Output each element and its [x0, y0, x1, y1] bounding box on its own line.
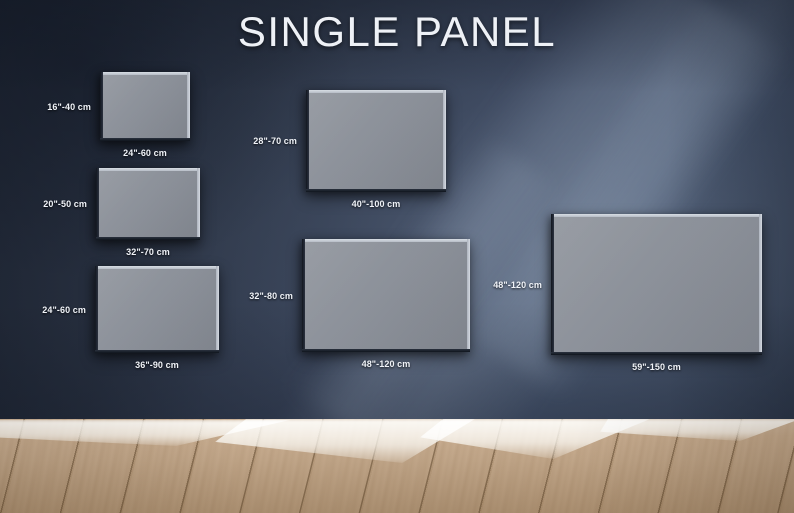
panel-face-sheen	[99, 171, 197, 237]
panel-edge-bottom	[95, 350, 219, 353]
panel-edge-left	[95, 266, 98, 353]
panel-width-label: 32"-70 cm	[126, 247, 170, 257]
panel-height-label: 32"-80 cm	[249, 291, 293, 301]
canvas-panel-40x28[interactable]	[306, 90, 446, 192]
panel-edge-right	[443, 90, 446, 192]
panel-edge-left	[100, 72, 103, 141]
panel-edge-left	[96, 168, 99, 240]
wood-floor	[0, 419, 794, 513]
panel-edge-top	[551, 214, 762, 217]
canvas-panel-48x32[interactable]	[302, 239, 470, 352]
panel-edge-left	[551, 214, 554, 355]
panel-edge-right	[216, 266, 219, 353]
canvas-panel-32x20[interactable]	[96, 168, 200, 240]
panel-height-label: 16"-40 cm	[47, 102, 91, 112]
panel-edge-left	[306, 90, 309, 192]
panel-face-sheen	[309, 93, 443, 189]
panel-width-label: 40"-100 cm	[352, 199, 401, 209]
panel-height-label: 48"-120 cm	[493, 280, 542, 290]
panel-edge-right	[759, 214, 762, 355]
panel-width-label: 36"-90 cm	[135, 360, 179, 370]
canvas-panel-24x16[interactable]	[100, 72, 190, 141]
panel-edge-bottom	[302, 349, 470, 352]
panel-edge-bottom	[100, 138, 190, 141]
single-panel-size-guide: SINGLE PANEL 16"-40 cm 24"-60 cm 20"-50 …	[0, 0, 794, 513]
panel-face-sheen	[554, 217, 759, 352]
canvas-panel-59x48[interactable]	[551, 214, 762, 355]
page-title: SINGLE PANEL	[0, 8, 794, 56]
panel-edge-right	[197, 168, 200, 240]
panel-edge-top	[96, 168, 200, 171]
panel-edge-bottom	[96, 237, 200, 240]
panel-edge-top	[306, 90, 446, 93]
panel-edge-top	[302, 239, 470, 242]
panel-edge-right	[187, 72, 190, 141]
panel-edge-bottom	[551, 352, 762, 355]
panel-edge-bottom	[306, 189, 446, 192]
panel-edge-top	[100, 72, 190, 75]
panel-face-sheen	[103, 75, 187, 138]
panel-height-label: 24"-60 cm	[42, 305, 86, 315]
panel-width-label: 48"-120 cm	[362, 359, 411, 369]
canvas-panel-36x24[interactable]	[95, 266, 219, 353]
panel-edge-left	[302, 239, 305, 352]
panel-edge-top	[95, 266, 219, 269]
panel-edge-right	[467, 239, 470, 352]
panel-face-sheen	[305, 242, 467, 349]
panel-height-label: 28"-70 cm	[253, 136, 297, 146]
panel-width-label: 59"-150 cm	[632, 362, 681, 372]
panel-height-label: 20"-50 cm	[43, 199, 87, 209]
panel-width-label: 24"-60 cm	[123, 148, 167, 158]
panel-face-sheen	[98, 269, 216, 350]
